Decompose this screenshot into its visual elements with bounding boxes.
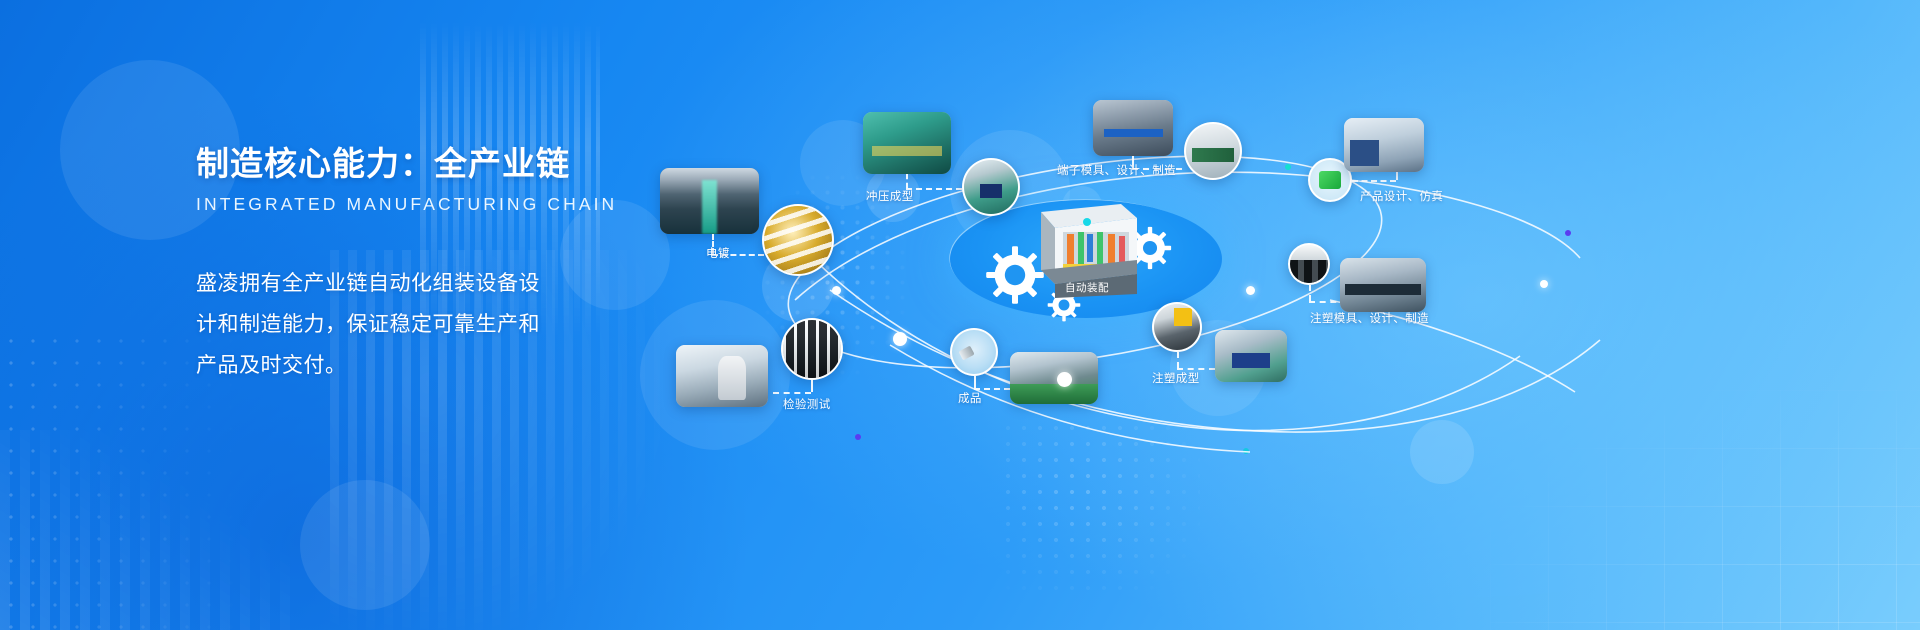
node-photo-terminal-mold[interactable] [1093, 100, 1173, 156]
connector-inspection-test [811, 380, 813, 392]
photo-connector-products [952, 330, 996, 374]
node-icon-inspection-test[interactable] [781, 318, 843, 380]
connector-finished-product [974, 376, 976, 388]
node-icon-finished-product[interactable] [950, 328, 998, 376]
connector-product-design [1352, 180, 1396, 182]
photo-design-office [1344, 118, 1424, 172]
node-icon-goldmesh[interactable] [762, 204, 834, 276]
connector-stamping [906, 188, 962, 190]
node-label-electroplating: 电镀 [706, 245, 730, 261]
node-photo-electroplating[interactable] [660, 168, 759, 234]
orbit-node-dot [832, 286, 841, 295]
photo-test-rack [783, 320, 841, 378]
photo-inspection-station [676, 345, 768, 407]
manufacturing-chain-diagram: 自动装配 电镀 冲压成型 端子模具、设计、制造 [0, 0, 1920, 630]
node-label-stamping: 冲压成型 [866, 188, 914, 204]
node-label-finished-product: 成品 [958, 390, 982, 406]
orbit-node-dot [1540, 280, 1548, 288]
photo-mold-workshop [1093, 100, 1173, 156]
photo-stamping-workshop [863, 112, 951, 174]
photo-injection-machine [1154, 304, 1200, 350]
photo-terminal-mold-part [1186, 124, 1240, 178]
photo-injection-mold-shop [1340, 258, 1426, 312]
node-photo-finished-product[interactable] [1010, 352, 1098, 404]
node-photo-inspection-test[interactable] [676, 345, 768, 407]
node-label-injection-mold: 注塑模具、设计、制造 [1310, 310, 1429, 326]
connector-injection-mold [1309, 285, 1311, 301]
connector-stamping [906, 174, 908, 188]
orbit-node-dot [1246, 286, 1255, 295]
node-icon-stamping-machine[interactable] [962, 158, 1020, 216]
node-icon-injection-forming[interactable] [1152, 302, 1202, 352]
photo-injection-mold-part [1290, 245, 1328, 283]
node-icon-injection-mold[interactable] [1288, 243, 1330, 285]
node-photo-injection-mold[interactable] [1340, 258, 1426, 312]
node-photo-product-design[interactable] [1344, 118, 1424, 172]
photo-plated-part [764, 206, 832, 274]
node-photo-stamping[interactable] [863, 112, 951, 174]
node-label-inspection-test: 检验测试 [783, 396, 831, 412]
node-icon-terminal-mold[interactable] [1184, 122, 1242, 180]
photo-electroplating [660, 168, 759, 234]
center-platform-label: 自动装配 [1065, 280, 1109, 295]
node-label-injection-forming: 注塑成型 [1152, 370, 1200, 386]
photo-assembly-line [1010, 352, 1098, 404]
orbit-node-dot [1057, 372, 1072, 387]
orbit-node-dot [893, 332, 907, 346]
connector-injection-forming [1177, 352, 1179, 368]
orbit-lines [0, 0, 1920, 630]
photo-stamping-press [964, 160, 1018, 214]
node-photo-injection-forming[interactable] [1215, 330, 1287, 382]
hero-banner: 制造核心能力：全产业链 INTEGRATED MANUFACTURING CHA… [0, 0, 1920, 630]
node-label-terminal-mold: 端子模具、设计、制造 [1057, 162, 1176, 178]
photo-injection-line [1215, 330, 1287, 382]
connector-inspection-test [773, 392, 811, 394]
node-label-product-design: 产品设计、仿真 [1360, 188, 1443, 204]
